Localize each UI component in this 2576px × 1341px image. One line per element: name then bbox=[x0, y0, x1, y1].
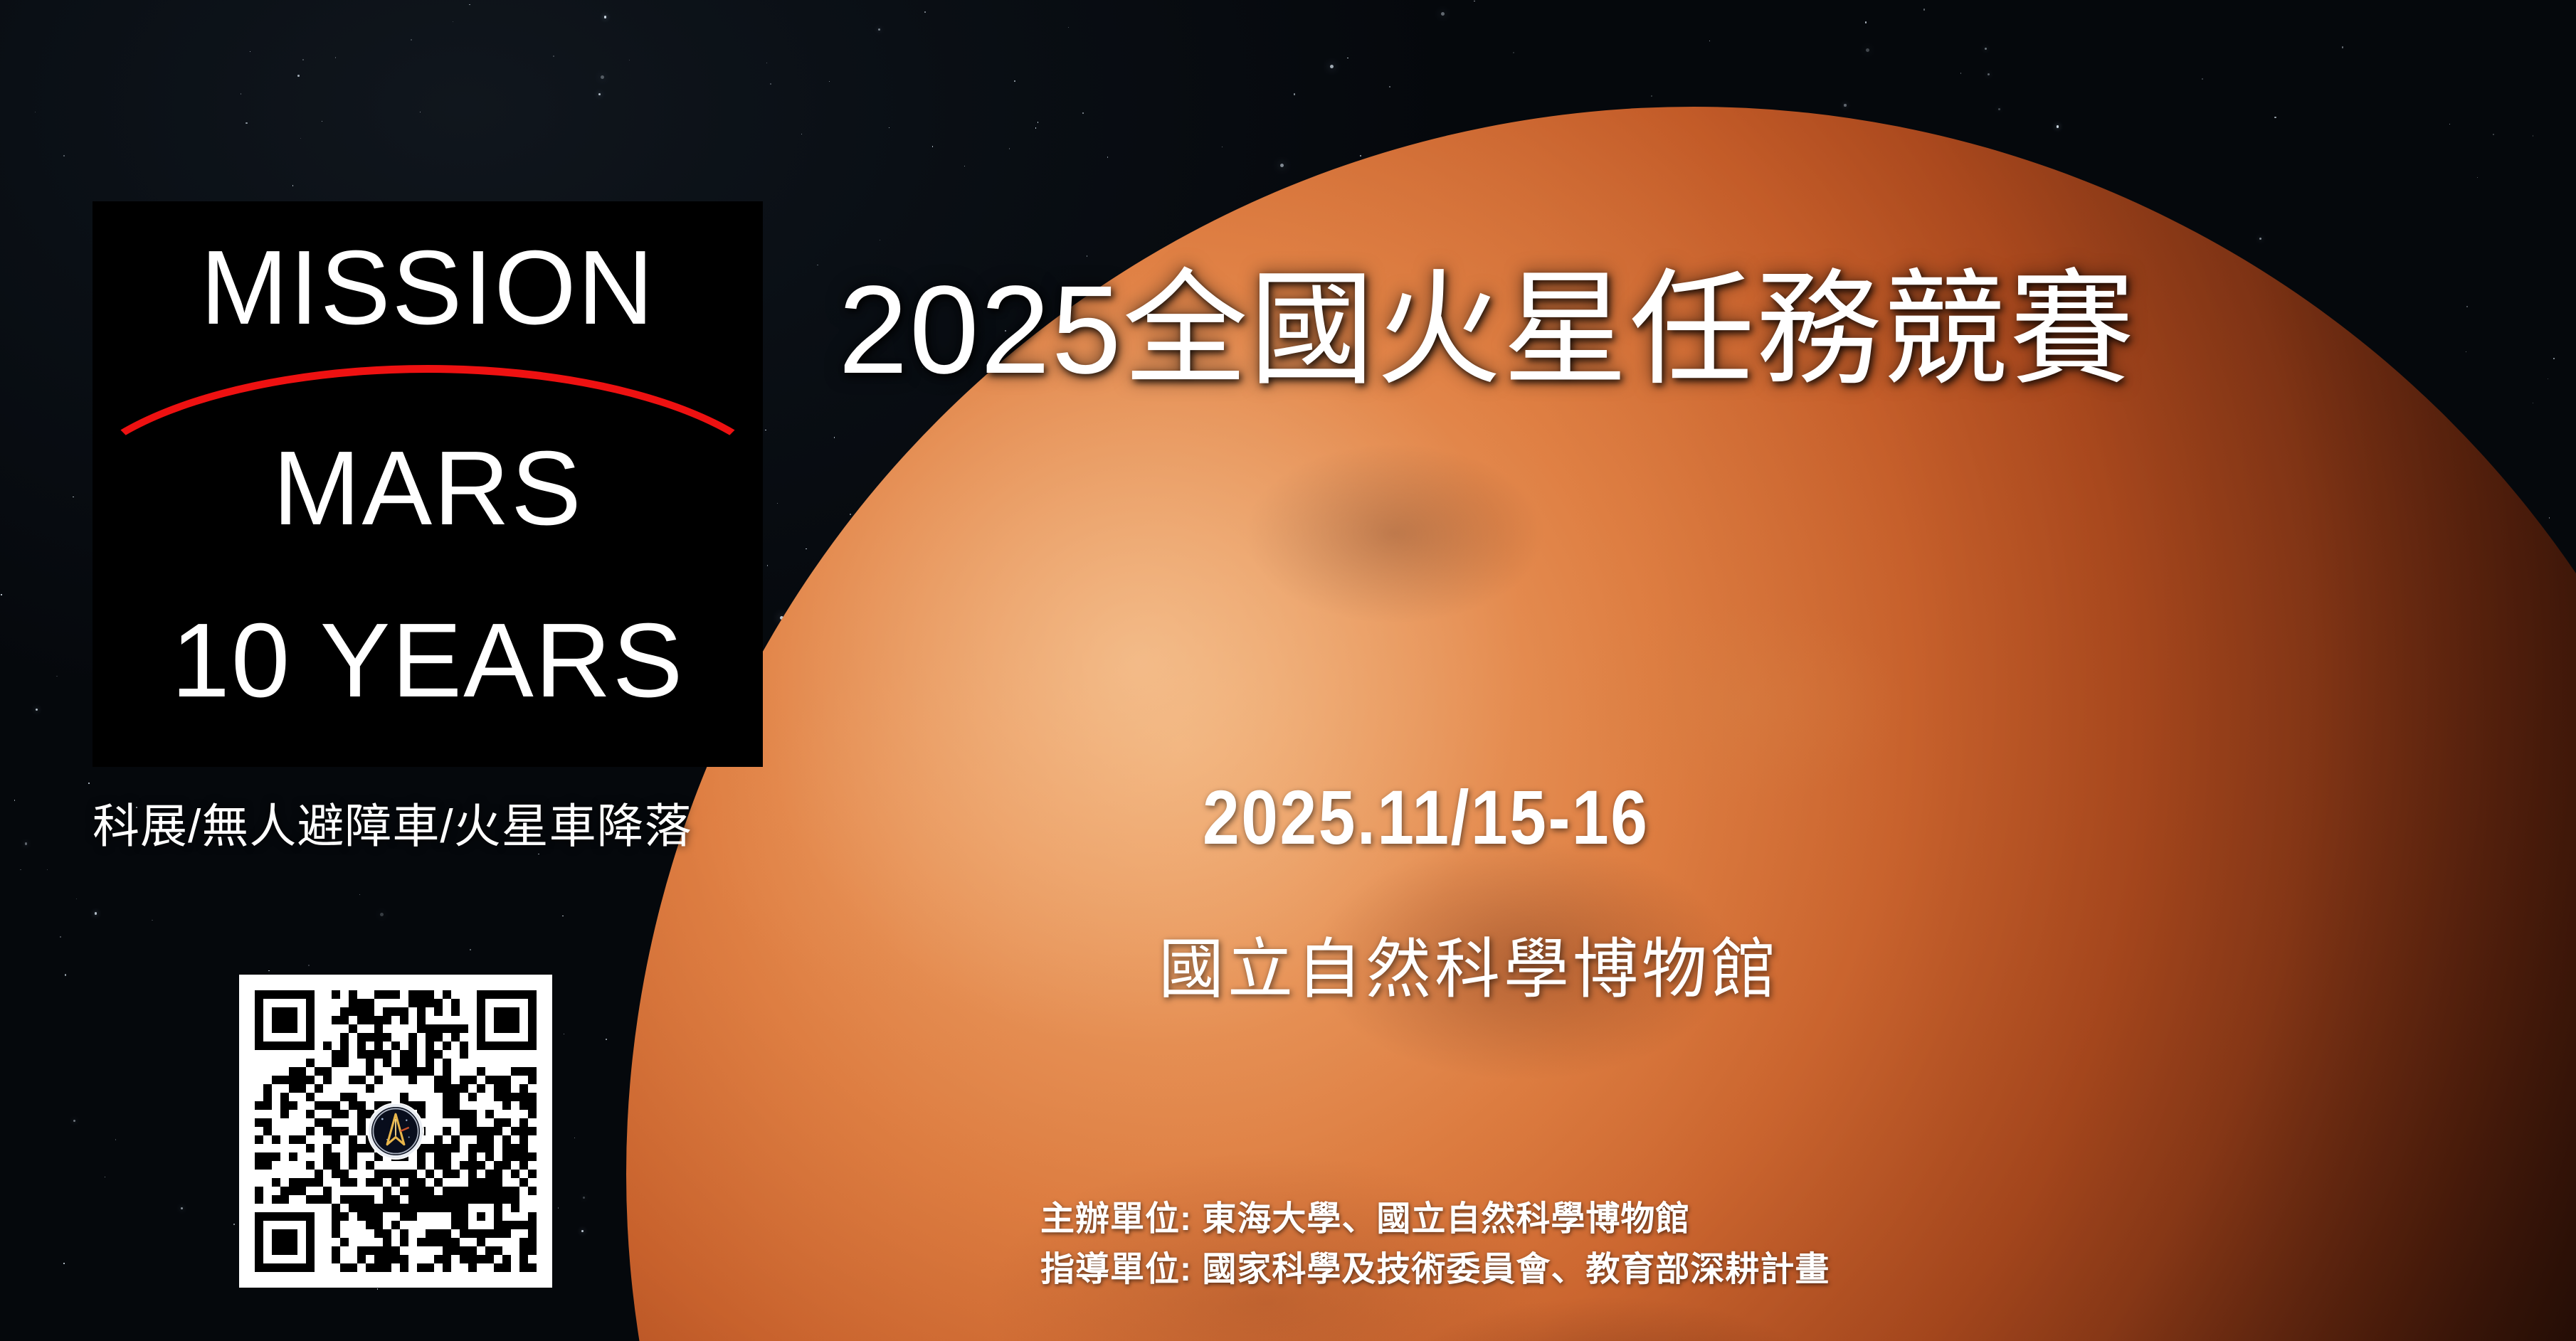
event-venue: 國立自然科學博物館 bbox=[1158, 916, 1780, 1011]
logo-line-years: 10 YEARS bbox=[93, 608, 763, 714]
poster-canvas: MISSION MARS 10 YEARS 科展/無人避障車/火星車降落 202… bbox=[0, 0, 2576, 1341]
organizer-line: 主辦單位: 東海大學、國立自然科學博物館 bbox=[1040, 1194, 1830, 1244]
qr-code[interactable] bbox=[239, 975, 552, 1288]
page-title: 2025全國火星任務競賽 bbox=[838, 228, 2136, 409]
logo-line-mission: MISSION bbox=[93, 235, 763, 341]
logo-line-mars: MARS bbox=[93, 436, 763, 541]
event-date: 2025.11/15-16 bbox=[1203, 773, 1649, 862]
footer-credits: 主辦單位: 東海大學、國立自然科學博物館 指導單位: 國家科學及技術委員會、教育… bbox=[1040, 1194, 1830, 1295]
mission-mars-emblem-icon bbox=[369, 1104, 423, 1158]
qr-code-matrix bbox=[255, 990, 537, 1272]
mission-mars-logo: MISSION MARS 10 YEARS bbox=[93, 201, 763, 767]
event-subtitle: 科展/無人避障車/火星車降落 bbox=[93, 788, 692, 857]
advisor-line: 指導單位: 國家科學及技術委員會、教育部深耕計畫 bbox=[1040, 1244, 1830, 1295]
